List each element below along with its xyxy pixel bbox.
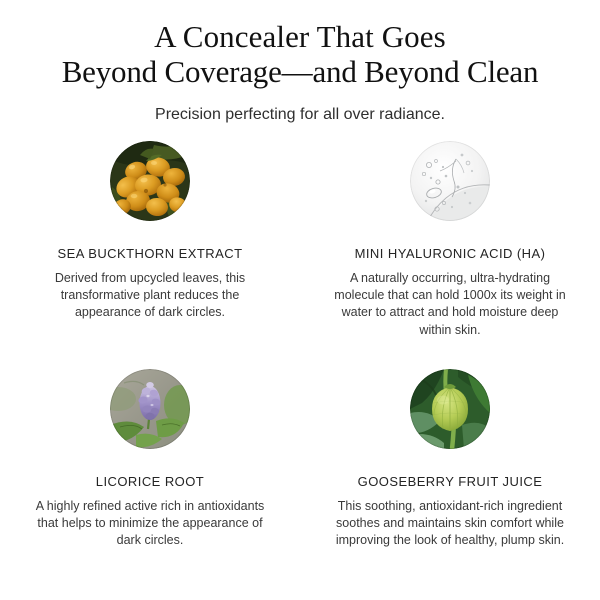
ingredient-name: LICORICE ROOT bbox=[96, 474, 204, 489]
ingredient-card-sea-buckthorn: SEA BUCKTHORN EXTRACT Derived from upcyc… bbox=[0, 141, 300, 356]
ingredient-name: MINI HYALURONIC ACID (HA) bbox=[355, 246, 546, 261]
ingredient-card-gooseberry: GOOSEBERRY FRUIT JUICE This soothing, an… bbox=[300, 356, 600, 550]
ingredient-description: Derived from upcycled leaves, this trans… bbox=[34, 270, 266, 322]
ingredient-description: A highly refined active rich in antioxid… bbox=[34, 498, 266, 550]
hyaluronic-acid-gel-photo bbox=[410, 141, 490, 221]
gooseberry-husk-fruit-photo bbox=[410, 369, 490, 449]
ingredient-name: SEA BUCKTHORN EXTRACT bbox=[58, 246, 243, 261]
page-title: A Concealer That Goes Beyond Coverage—an… bbox=[0, 19, 600, 89]
licorice-root-flower-photo bbox=[110, 369, 190, 449]
sea-buckthorn-berries-photo bbox=[110, 141, 190, 221]
ingredient-grid: SEA BUCKTHORN EXTRACT Derived from upcyc… bbox=[0, 141, 600, 550]
header: A Concealer That Goes Beyond Coverage—an… bbox=[0, 0, 600, 126]
ingredient-description: This soothing, antioxidant-rich ingredie… bbox=[331, 498, 569, 550]
headline-line-2: Beyond Coverage—and Beyond Clean bbox=[18, 54, 582, 89]
ingredient-card-licorice-root: LICORICE ROOT A highly refined active ri… bbox=[0, 356, 300, 550]
ingredient-description: A naturally occurring, ultra-hydrating m… bbox=[331, 270, 569, 339]
ingredient-benefits-page: A Concealer That Goes Beyond Coverage—an… bbox=[0, 0, 600, 600]
ingredient-card-hyaluronic-acid: MINI HYALURONIC ACID (HA) A naturally oc… bbox=[300, 141, 600, 356]
ingredient-name: GOOSEBERRY FRUIT JUICE bbox=[358, 474, 543, 489]
page-subtitle: Precision perfecting for all over radian… bbox=[0, 104, 600, 126]
headline-line-1: A Concealer That Goes bbox=[18, 19, 582, 54]
